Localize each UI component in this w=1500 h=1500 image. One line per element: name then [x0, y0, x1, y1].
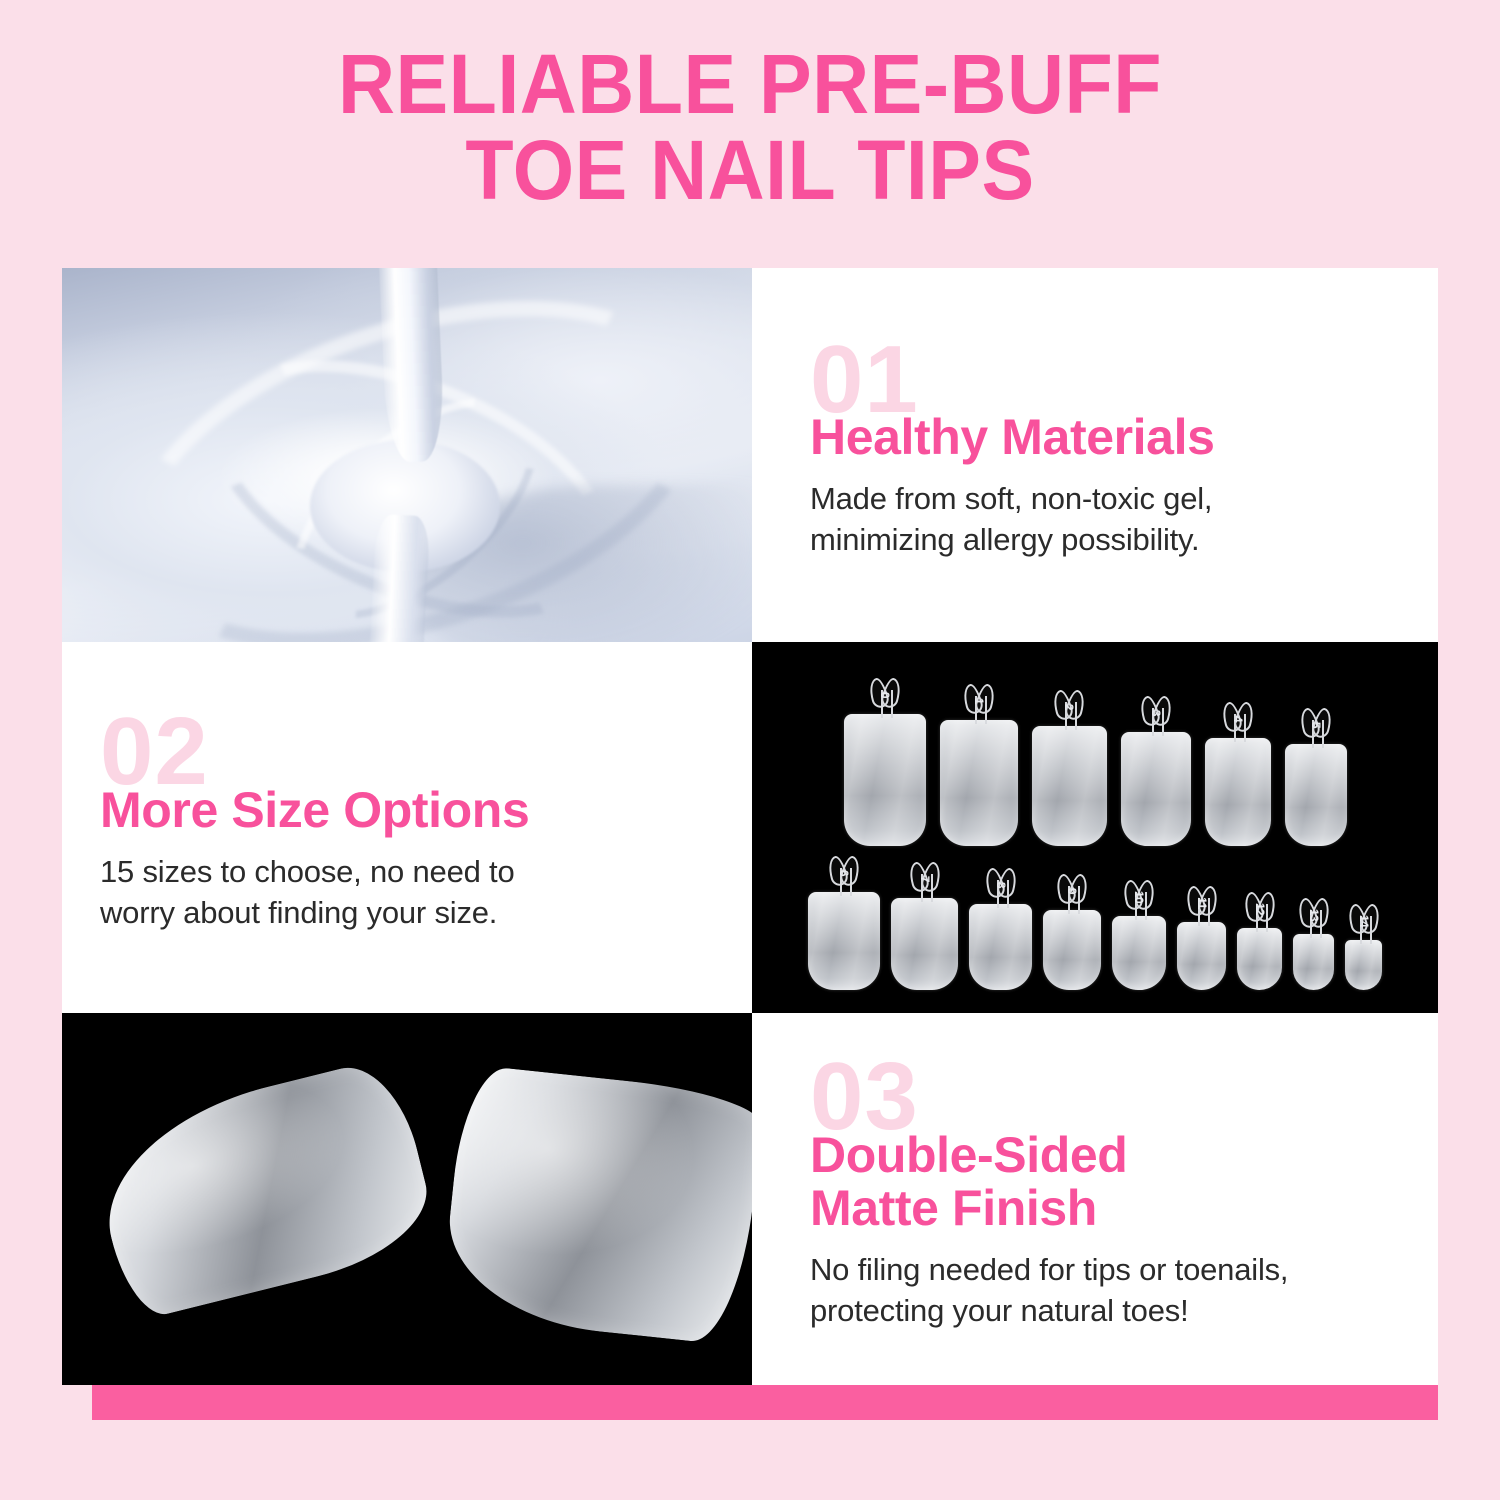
butterfly-tab-icon: 6 [829, 856, 859, 896]
nail-tip-7: 7 [891, 862, 958, 990]
nail-tip-size-label: 0 [879, 692, 891, 698]
nail-tip-body [1285, 744, 1347, 846]
nail-tip-3: 3 [1121, 696, 1191, 846]
gel-pour-photo [62, 268, 752, 642]
butterfly-tab-icon: 11 [1187, 886, 1217, 926]
nail-tip-size-label: 3 [1150, 710, 1162, 716]
nail-tip-body [940, 720, 1018, 846]
nail-tip-size-label: 7 [919, 876, 931, 882]
nail-tip-11: 11 [1177, 886, 1226, 990]
nail-tip-body [1205, 738, 1271, 846]
feature-grid: 01 Healthy Materials Made from soft, non… [62, 268, 1438, 1385]
nail-tip-9: 9 [1043, 874, 1101, 990]
butterfly-tab-icon: 5 [1301, 708, 1331, 748]
nail-tip-body [891, 898, 958, 990]
title-line-1: RELIABLE PRE-BUFF [45, 42, 1455, 128]
nail-tip-body [1121, 732, 1191, 846]
nail-tip-size-label: 1 [973, 698, 985, 704]
nail-tip-size-label: 14 [1358, 915, 1370, 927]
nail-tip-body [844, 714, 926, 846]
butterfly-tab-icon: 4 [1223, 702, 1253, 742]
nail-tip-body [969, 904, 1032, 990]
size-chart-row-top: 012345 [752, 676, 1438, 846]
page-title: RELIABLE PRE-BUFF TOE NAIL TIPS [0, 42, 1500, 213]
nail-tip-size-label: 8 [995, 882, 1007, 888]
nail-tip-size-label: 12 [1254, 903, 1266, 915]
size-chart-row-bottom: 67891011121314 [752, 860, 1438, 990]
matte-finish-photo [62, 1013, 752, 1385]
feature-number-03: 03 [810, 1067, 1398, 1127]
nail-tip-8: 8 [969, 868, 1032, 990]
nail-tip-size-label: 5 [1310, 722, 1322, 728]
feature-desc-03: No filing needed for tips or toenails, p… [810, 1249, 1398, 1331]
nail-tip-body [1177, 922, 1226, 990]
nail-tip-body [1043, 910, 1101, 990]
butterfly-tab-icon: 1 [964, 684, 994, 724]
feature-desc-03-line2: protecting your natural toes! [810, 1290, 1398, 1331]
nail-tip-body [1112, 916, 1166, 990]
matte-tip-left [85, 1055, 441, 1322]
butterfly-tab-icon: 8 [986, 868, 1016, 908]
title-line-2: TOE NAIL TIPS [45, 128, 1455, 214]
feature-title-03-line1: Double-Sided [810, 1129, 1398, 1182]
feature-block-03: 03 Double-Sided Matte Finish No filing n… [752, 1013, 1438, 1385]
butterfly-tab-icon: 12 [1245, 892, 1275, 932]
butterfly-tab-icon: 13 [1299, 898, 1329, 938]
feature-title-02: More Size Options [100, 784, 712, 837]
feature-title-01: Healthy Materials [810, 411, 1398, 464]
butterfly-tab-icon: 0 [870, 678, 900, 718]
nail-tip-size-label: 13 [1308, 909, 1320, 921]
nail-tip-4: 4 [1205, 702, 1271, 846]
feature-desc-03-line1: No filing needed for tips or toenails, [810, 1249, 1398, 1290]
nail-tip-body [1237, 928, 1282, 990]
nail-tip-size-label: 4 [1232, 716, 1244, 722]
gel-drip [369, 514, 430, 642]
nail-tip-13: 13 [1293, 898, 1334, 990]
feature-desc-02-line2: worry about finding your size. [100, 892, 712, 933]
butterfly-tab-icon: 3 [1141, 696, 1171, 736]
butterfly-tab-icon: 9 [1057, 874, 1087, 914]
nail-tip-body [808, 892, 880, 990]
feature-block-01: 01 Healthy Materials Made from soft, non… [752, 268, 1438, 642]
feature-desc-01: Made from soft, non-toxic gel, minimizin… [810, 478, 1398, 560]
nail-tip-body [1032, 726, 1107, 846]
butterfly-tab-icon: 7 [910, 862, 940, 902]
butterfly-tab-icon: 14 [1349, 904, 1379, 944]
nail-tip-5: 5 [1285, 708, 1347, 846]
nail-tip-0: 0 [844, 678, 926, 846]
nail-tip-1: 1 [940, 684, 1018, 846]
feature-title-03: Double-Sided Matte Finish [810, 1129, 1398, 1235]
feature-desc-01-line1: Made from soft, non-toxic gel, [810, 478, 1398, 519]
feature-desc-02: 15 sizes to choose, no need to worry abo… [100, 851, 712, 933]
matte-tip-right [440, 1064, 752, 1346]
nail-tip-12: 12 [1237, 892, 1282, 990]
nail-tip-body [1293, 934, 1334, 990]
nail-tip-10: 10 [1112, 880, 1166, 990]
feature-number-01: 01 [810, 350, 1398, 410]
nail-tip-size-label: 6 [838, 870, 850, 876]
nail-tip-2: 2 [1032, 690, 1107, 846]
nail-tip-size-label: 11 [1196, 897, 1208, 909]
butterfly-tab-icon: 10 [1124, 880, 1154, 920]
nail-tip-body [1345, 940, 1382, 990]
nail-tip-size-label: 9 [1066, 888, 1078, 894]
feature-title-03-line2: Matte Finish [810, 1182, 1398, 1235]
feature-desc-01-line2: minimizing allergy possibility. [810, 519, 1398, 560]
nail-tip-14: 14 [1345, 904, 1382, 990]
feature-block-02: 02 More Size Options 15 sizes to choose,… [62, 642, 752, 1013]
nail-tip-6: 6 [808, 856, 880, 990]
size-chart-photo: 012345 67891011121314 [752, 642, 1438, 1013]
feature-number-02: 02 [100, 722, 712, 782]
nail-tip-size-label: 2 [1063, 704, 1075, 710]
nail-tip-size-label: 10 [1133, 891, 1145, 903]
feature-desc-02-line1: 15 sizes to choose, no need to [100, 851, 712, 892]
butterfly-tab-icon: 2 [1054, 690, 1084, 730]
